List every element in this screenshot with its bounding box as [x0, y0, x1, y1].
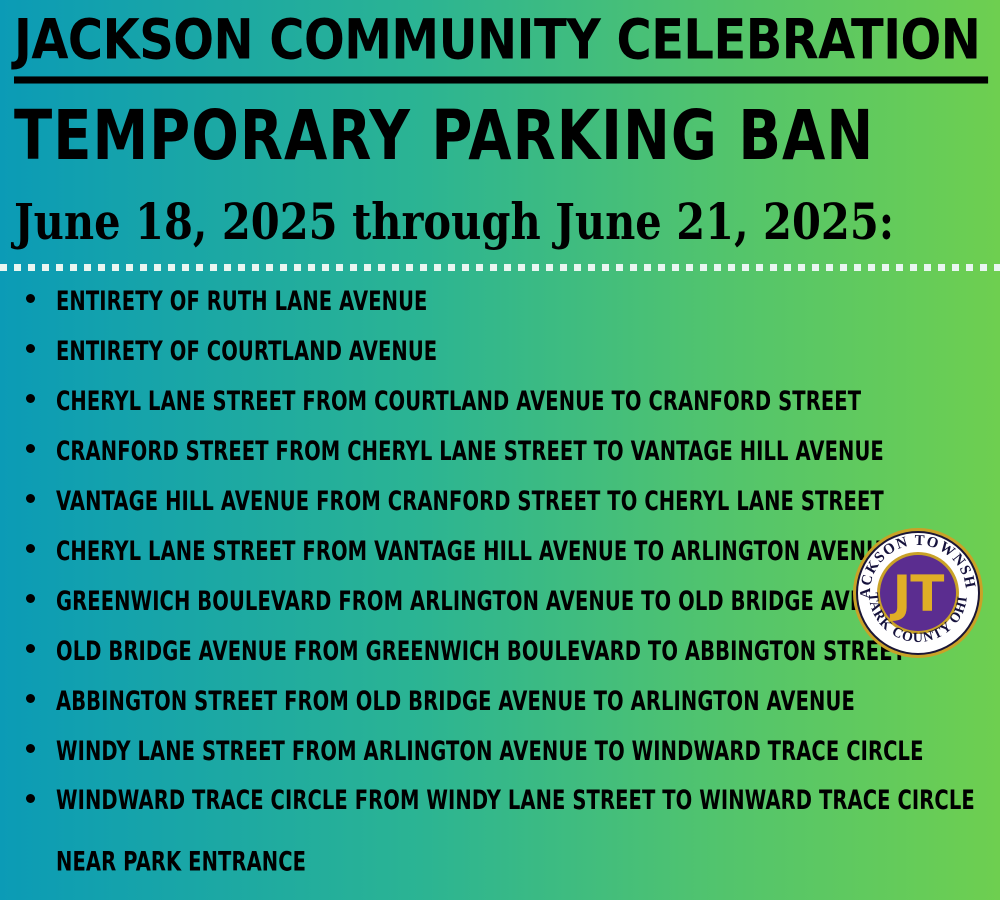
bullet-icon	[26, 694, 35, 703]
jackson-township-seal-icon: JACKSON TOWNSHIP STARK COUNTY OHIO JT	[852, 527, 984, 659]
bullet-icon	[26, 444, 35, 453]
event-title: JACKSON COMMUNITY CELEBRATION	[14, 8, 988, 84]
parking-ban-poster: JACKSON COMMUNITY CELEBRATION TEMPORARY …	[0, 0, 1000, 900]
poster-headings: JACKSON COMMUNITY CELEBRATION TEMPORARY …	[0, 0, 1000, 242]
street-closure-list: ENTIRETY OF RUTH LANE AVENUE ENTIRETY OF…	[0, 283, 1000, 893]
list-item: CRANFORD STREET FROM CHERYL LANE STREET …	[0, 433, 1000, 469]
bullet-icon	[26, 494, 35, 503]
list-item: ENTIRETY OF COURTLAND AVENUE	[0, 333, 1000, 369]
seal-monogram: JT	[890, 565, 945, 623]
bullet-icon	[26, 544, 35, 553]
list-item: ABBINGTON STREET FROM OLD BRIDGE AVENUE …	[0, 683, 1000, 719]
bullet-icon	[26, 294, 35, 303]
list-item: CHERYL LANE STREET FROM VANTAGE HILL AVE…	[0, 533, 1000, 569]
list-item-label: ENTIRETY OF RUTH LANE AVENUE	[56, 278, 995, 324]
list-item: WINDWARD TRACE CIRCLE FROM WINDY LANE ST…	[0, 783, 1000, 879]
list-item-label: VANTAGE HILL AVENUE FROM CRANFORD STREET…	[56, 478, 995, 524]
bullet-icon	[26, 644, 35, 653]
notice-title: TEMPORARY PARKING BAN	[14, 98, 986, 176]
bullet-icon	[26, 794, 35, 803]
list-item: ENTIRETY OF RUTH LANE AVENUE	[0, 283, 1000, 319]
date-range: June 18, 2025 through June 21, 2025:	[14, 194, 976, 251]
list-item: VANTAGE HILL AVENUE FROM CRANFORD STREET…	[0, 483, 1000, 519]
bullet-icon	[26, 744, 35, 753]
bullet-icon	[26, 394, 35, 403]
dotted-divider	[0, 264, 1000, 271]
list-item-label: WINDWARD TRACE CIRCLE FROM WINDY LANE ST…	[56, 770, 991, 893]
list-item-label: CRANFORD STREET FROM CHERYL LANE STREET …	[56, 428, 995, 474]
bullet-icon	[26, 344, 35, 353]
list-item: GREENWICH BOULEVARD FROM ARLINGTON AVENU…	[0, 583, 1000, 619]
list-item: WINDY LANE STREET FROM ARLINGTON AVENUE …	[0, 733, 1000, 769]
list-item: CHERYL LANE STREET FROM COURTLAND AVENUE…	[0, 383, 1000, 419]
list-item-label: ENTIRETY OF COURTLAND AVENUE	[56, 328, 995, 374]
list-item: OLD BRIDGE AVENUE FROM GREENWICH BOULEVA…	[0, 633, 1000, 669]
list-item-label: CHERYL LANE STREET FROM COURTLAND AVENUE…	[56, 378, 995, 424]
list-item-label: WINDY LANE STREET FROM ARLINGTON AVENUE …	[56, 728, 995, 774]
list-item-label: ABBINGTON STREET FROM OLD BRIDGE AVENUE …	[56, 678, 995, 724]
bullet-icon	[26, 594, 35, 603]
